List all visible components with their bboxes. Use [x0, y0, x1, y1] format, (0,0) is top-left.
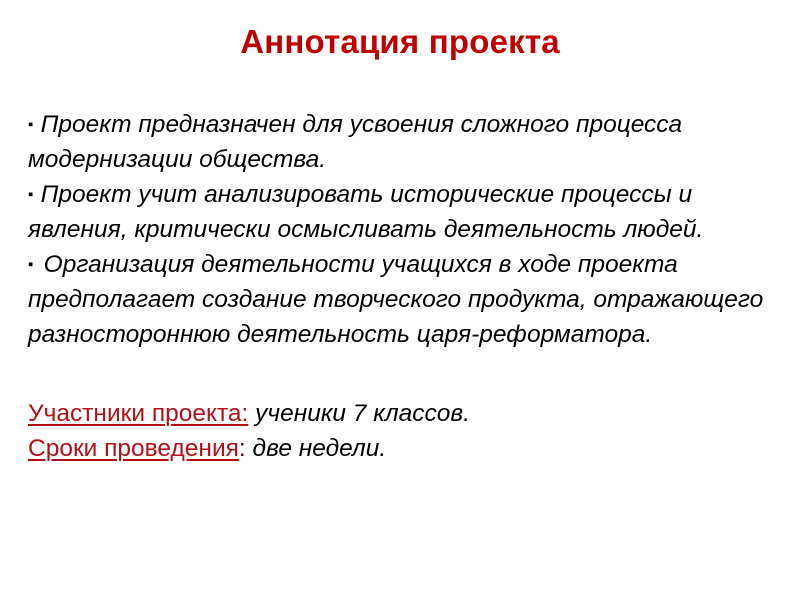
participants-line: Участники проекта: ученики 7 классов. — [28, 396, 786, 431]
square-bullet-icon: ▪ — [28, 116, 34, 133]
duration-value: две недели. — [246, 435, 386, 462]
participants-value: ученики 7 классов. — [248, 400, 470, 427]
slide-canvas: Аннотация проекта ▪ Проект предназначен … — [0, 0, 800, 600]
square-bullet-icon: ▪ — [28, 256, 37, 273]
square-bullet-icon: ▪ — [28, 186, 34, 203]
list-item: ▪ Проект предназначен для усвоения сложн… — [28, 107, 786, 177]
list-item: ▪ Проект учит анализировать исторические… — [28, 177, 786, 247]
list-item-text: Организация деятельности учащихся в ходе… — [28, 251, 763, 348]
list-item-text: Проект предназначен для усвоения сложног… — [28, 111, 682, 173]
duration-label: Сроки проведения — [28, 435, 239, 462]
list-item-text: Проект учит анализировать исторические п… — [28, 181, 703, 243]
duration-colon: : — [239, 435, 246, 462]
project-info-block: Участники проекта: ученики 7 классов. Ср… — [28, 396, 786, 466]
bullet-list: ▪ Проект предназначен для усвоения сложн… — [28, 107, 786, 352]
duration-line: Сроки проведения: две недели. — [28, 431, 786, 466]
page-title: Аннотация проекта — [0, 22, 800, 62]
list-item: ▪ Организация деятельности учащихся в хо… — [28, 247, 786, 352]
participants-label: Участники проекта: — [28, 400, 248, 427]
